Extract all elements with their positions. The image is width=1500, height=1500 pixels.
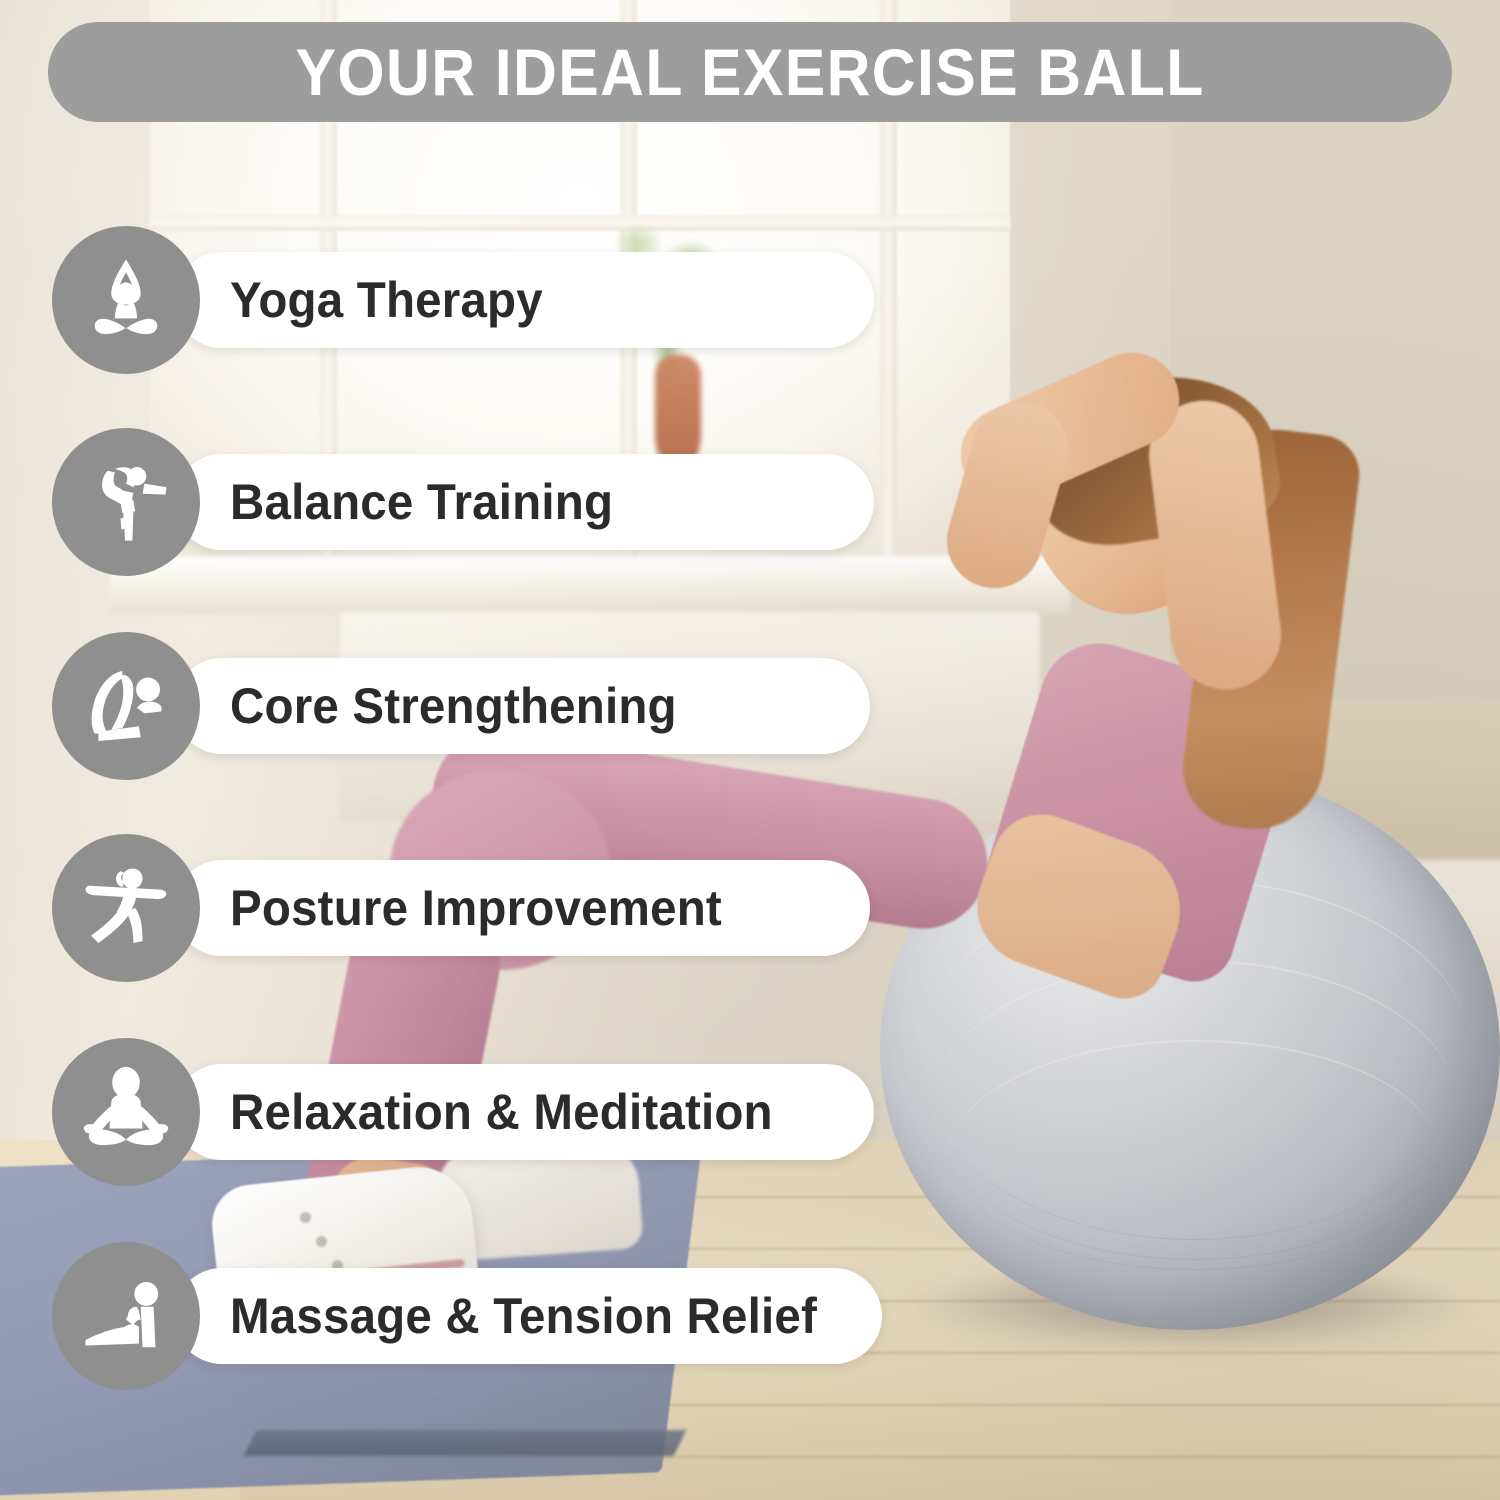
title-banner: YOUR IDEAL EXERCISE BALL bbox=[48, 22, 1452, 122]
feature-label: Relaxation & Meditation bbox=[230, 1087, 773, 1137]
feature-label: Yoga Therapy bbox=[230, 275, 543, 325]
seated-meditation-icon bbox=[52, 1038, 200, 1186]
warrior-pose-icon bbox=[52, 834, 200, 982]
massage-therapy-icon bbox=[52, 1242, 200, 1390]
yoga-lotus-arms-up-icon bbox=[52, 226, 200, 374]
page-title: YOUR IDEAL EXERCISE BALL bbox=[295, 39, 1204, 105]
feature-row-massage-tension-relief[interactable]: Massage & Tension Relief bbox=[52, 1242, 882, 1390]
feature-pill[interactable]: Core Strengthening bbox=[174, 658, 870, 754]
balance-dancer-pose-icon bbox=[52, 428, 200, 576]
feature-row-relaxation-meditation[interactable]: Relaxation & Meditation bbox=[52, 1038, 874, 1186]
feature-label: Core Strengthening bbox=[230, 681, 677, 731]
feature-row-posture-improvement[interactable]: Posture Improvement bbox=[52, 834, 870, 982]
infographic-canvas: YOUR IDEAL EXERCISE BALL Yoga Therapy bbox=[0, 0, 1500, 1500]
feature-pill[interactable]: Relaxation & Meditation bbox=[174, 1064, 874, 1160]
feature-label: Massage & Tension Relief bbox=[230, 1291, 817, 1341]
feature-pill[interactable]: Posture Improvement bbox=[174, 860, 870, 956]
feature-pill[interactable]: Balance Training bbox=[174, 454, 874, 550]
core-crunch-pose-icon bbox=[52, 632, 200, 780]
yoga-mat-edge bbox=[244, 1430, 687, 1456]
feature-pill[interactable]: Yoga Therapy bbox=[174, 252, 874, 348]
feature-row-balance-training[interactable]: Balance Training bbox=[52, 428, 874, 576]
feature-label: Posture Improvement bbox=[230, 883, 722, 933]
feature-row-yoga-therapy[interactable]: Yoga Therapy bbox=[52, 226, 874, 374]
feature-label: Balance Training bbox=[230, 477, 613, 527]
feature-row-core-strengthening[interactable]: Core Strengthening bbox=[52, 632, 870, 780]
feature-pill[interactable]: Massage & Tension Relief bbox=[174, 1268, 882, 1364]
